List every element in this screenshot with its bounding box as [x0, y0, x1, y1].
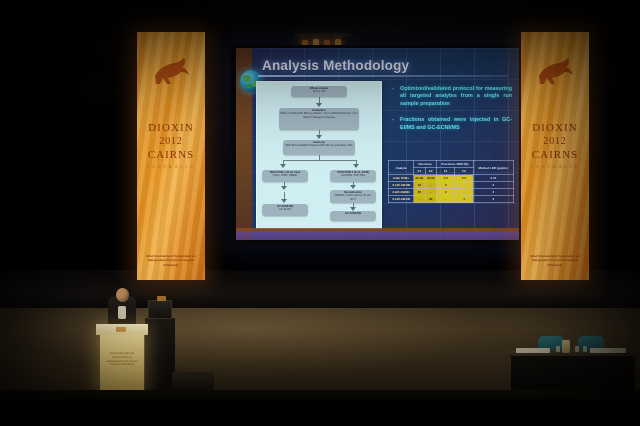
slide-bullet-list: Optimized/validated protocol for measuri… [392, 86, 512, 141]
banner-left: DIOXIN 2012 CAIRNS AUSTRALIA 32nd Intern… [137, 32, 205, 280]
banner-line-city: CAIRNS [521, 149, 589, 161]
foreground-darkness [0, 400, 640, 426]
cell-rec-f2: - [425, 182, 436, 189]
equipment-case [172, 372, 214, 390]
flow-node-fraction2: FRACTION 2 (8 mL DCM) OH-PCBs, PCP-TBA [330, 170, 376, 182]
flow-arrow-icon [281, 199, 287, 203]
drinking-glass [556, 346, 560, 352]
table-row: Indic PCBs 82-99 70-92 1-5 2-5 2-10 [389, 175, 514, 182]
cell-lod: 3 [473, 189, 513, 196]
col-precision: Precision, RSD (%) [436, 161, 473, 168]
flow-arrow-icon [350, 185, 356, 189]
flow-node-sub: GC-EI-MS [279, 208, 291, 211]
cell-rsd-f2: 2-5 [455, 175, 473, 182]
flow-node-sub: OCPs, PCBs, PBDEs [273, 174, 298, 177]
banner-line-dioxin: DIOXIN [137, 122, 205, 134]
cell-rsd-f1: 3 [436, 182, 454, 189]
banner-line-city: CAIRNS [137, 149, 205, 161]
cell-rec-f2: - [425, 189, 436, 196]
slide-bullet: Fractions obtained were injected in GC-E… [392, 117, 512, 132]
cell-rsd-f1: 1-5 [436, 175, 454, 182]
flow-node-sub: SPE on SX40-HLB, 500 mg; Elution : 10 mL… [281, 112, 358, 118]
banner-subtitle: 32nd International Symposium on Halogena… [527, 254, 583, 267]
cell-rsd-f1: - [436, 196, 454, 203]
cell-rec-f2: 89 [425, 196, 436, 203]
av-lamp-icon [157, 296, 166, 301]
banner-hex-pattern [137, 87, 205, 267]
table-header-row: Analyte Recovery Precision, RSD (%) Meth… [389, 161, 514, 168]
truss-bar [295, 33, 351, 37]
flow-arrow-icon [316, 103, 322, 107]
banner-hex-pattern [521, 87, 589, 267]
cell-analyte: 4'-HO-CB146 [389, 196, 414, 203]
papers [516, 348, 550, 353]
slide-bullet: Optimized/validated protocol for measuri… [392, 86, 512, 108]
cell-rec-f1: - [414, 196, 425, 203]
cell-analyte: 4'-HO-CB109 [389, 182, 414, 189]
cell-lod: 3 [473, 196, 513, 203]
lectern-branding-text: 32nd International Symposium on Halogena… [104, 352, 140, 367]
water-jug [562, 340, 570, 353]
subcol-rec-f1: F1 [414, 168, 425, 175]
flow-node-gc1: GC-ECNI-MS GC-EI-MS [262, 204, 308, 216]
conference-hall-scene: Analysis Methodology Whole sample (4-6 g… [0, 0, 640, 426]
banner-line-country: AUSTRALIA [137, 164, 205, 169]
flow-node-sub: TMSDM, 0.2M in MeOH, 30 min, 30°C [334, 194, 372, 200]
flow-connector [283, 160, 356, 161]
drinking-glass [583, 346, 587, 352]
cell-rsd-f2: - [455, 182, 473, 189]
kangaroo-icon [149, 56, 193, 86]
table-row: 3-HO-CB161 85 - 2 - 3 [389, 189, 514, 196]
flow-node-extraction: Extraction SPE on SX40-HLB, 500 mg; Elut… [279, 108, 359, 130]
col-analyte: Analyte [389, 161, 414, 175]
col-recovery: Recovery [414, 161, 437, 168]
table-row: 4'-HO-CB146 - 89 - 1 3 [389, 196, 514, 203]
banner-subtitle: 32nd International Symposium on Halogena… [143, 254, 199, 267]
cell-rec-f1: 93 [414, 182, 425, 189]
slide-title-underline [258, 75, 508, 77]
flow-node-sub: OH-PCBs, PCP-TBA [341, 174, 365, 177]
col-method-lod: Method LOD (pg/mL) [473, 161, 513, 175]
cell-analyte: Indic PCBs [389, 175, 414, 182]
flow-node-gc2: GC-ECNI-MS [330, 211, 376, 221]
papers [590, 348, 626, 353]
cell-lod: 2-10 [473, 175, 513, 182]
cell-rec-f1: 82-99 [414, 175, 425, 182]
flow-node-sub: (4-6 g, dw) [313, 90, 325, 93]
cell-rec-f1: 85 [414, 189, 425, 196]
flow-node-sub: SPE Silica Acidified Prepared with 500 m… [285, 144, 352, 147]
speaker-head [116, 288, 129, 302]
subcol-rsd-f2: F2 [455, 168, 473, 175]
cell-rsd-f2: 1 [455, 196, 473, 203]
banner-right: DIOXIN 2012 CAIRNS AUSTRALIA 32nd Intern… [521, 32, 589, 280]
flow-node-cleanup: Clean-up SPE Silica Acidified Prepared w… [283, 140, 355, 155]
globe-landmass [243, 75, 251, 82]
cell-lod: 3 [473, 182, 513, 189]
slide-title: Analysis Methodology [262, 58, 502, 73]
flow-node-fraction1: FRACTION 1 (8 mL Hex) OCPs, PCBs, PBDEs [262, 170, 308, 182]
flow-arrow-icon [316, 135, 322, 139]
slide-bottom-band [236, 231, 519, 240]
table-row: 4'-HO-CB109 93 - 3 - 3 [389, 182, 514, 189]
cell-rec-f2: 70-92 [425, 175, 436, 182]
flow-arrow-icon [281, 186, 287, 190]
globe-landmass [246, 84, 251, 88]
flow-arrow-icon [353, 164, 359, 168]
flow-node-sample: Whole sample (4-6 g, dw) [291, 86, 347, 97]
banner-line-dioxin: DIOXIN [521, 122, 589, 134]
speaker-shirt [118, 306, 126, 319]
subcol-rec-f2: F2 [425, 168, 436, 175]
projection-screen: Analysis Methodology Whole sample (4-6 g… [236, 48, 519, 240]
lectern-logo [116, 327, 126, 332]
av-equipment-rack [145, 318, 175, 390]
banner-line-year: 2012 [137, 136, 205, 147]
cell-rsd-f1: 2 [436, 189, 454, 196]
flow-arrow-icon [280, 164, 286, 168]
av-monitor [148, 300, 172, 319]
flow-node-label: GC-ECNI-MS [331, 212, 375, 215]
cell-analyte: 3-HO-CB161 [389, 189, 414, 196]
flow-node-derivatisation: Derivatisation TMSDM, 0.2M in MeOH, 30 m… [330, 190, 376, 203]
banner-line-year: 2012 [521, 136, 589, 147]
kangaroo-icon [533, 56, 577, 86]
banner-line-country: AUSTRALIA [521, 164, 589, 169]
flowchart-panel: Whole sample (4-6 g, dw) Extraction SPE … [256, 81, 382, 229]
drinking-glass [575, 346, 579, 352]
results-table: Analyte Recovery Precision, RSD (%) Meth… [388, 160, 514, 203]
cell-rsd-f2: - [455, 189, 473, 196]
subcol-rsd-f1: F1 [436, 168, 454, 175]
